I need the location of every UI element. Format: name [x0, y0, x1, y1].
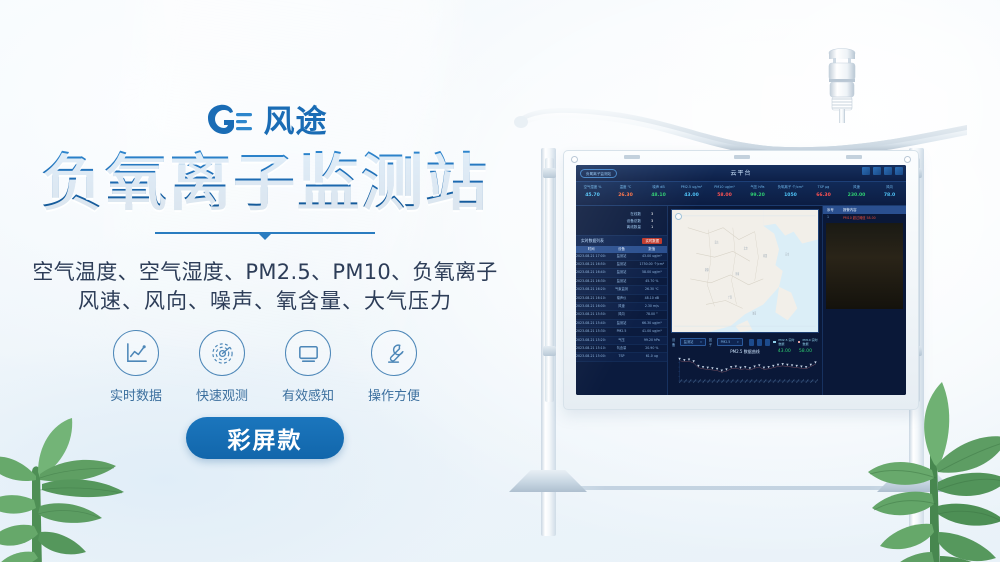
legend-label: PM10 实时数据	[802, 338, 818, 346]
hinge-icon	[904, 156, 911, 163]
metric-label: 风向	[873, 184, 906, 191]
alarm-row[interactable]: 1 PM10 超过阈值 58.00	[823, 214, 906, 220]
feature-label: 有效感知	[282, 385, 334, 404]
table-row[interactable]: 2023-08-21 16:40:06监测站58.00 ug/m³	[576, 269, 667, 277]
table-cell: 61.0 ug	[637, 353, 667, 360]
cta-button[interactable]: 彩屏款	[186, 417, 344, 459]
metric-value: 99.20	[741, 191, 774, 200]
device-stat-value: 1	[651, 224, 661, 231]
table-cell: 2023-08-21 15:00:00	[576, 353, 606, 360]
feature-item-effective-sensing[interactable]: 有效感知	[277, 330, 339, 404]
table-cell: 78.00 °	[637, 311, 667, 318]
base-plate-icon	[877, 470, 955, 492]
table-cell: 20.90 %	[637, 345, 667, 352]
table-cell: 1750.00 个/cm³	[637, 261, 667, 268]
metric-tile[interactable]: 噪声 dB48.10	[642, 182, 675, 205]
table-cell: 监测站	[606, 278, 636, 285]
table-cell: 2023-08-21 15:30:01	[576, 328, 606, 335]
svg-text:02:00: 02:00	[801, 379, 805, 384]
metric-label: 气压 hPa	[741, 184, 774, 191]
mount-tab	[846, 155, 862, 159]
metric-value: 58.00	[708, 191, 741, 200]
feature-item-fast-observation[interactable]: 快速观测	[191, 330, 253, 404]
data-table-rows[interactable]: 2023-08-21 17:00:07监测站43.00 ug/m³2023-08…	[576, 253, 667, 396]
mount-tab	[624, 155, 640, 159]
alarm-text: PM10 超过阈值 58.00	[839, 215, 906, 220]
table-cell: 2023-08-21 17:00:07	[576, 253, 606, 260]
chart-factor-value: PM2.5	[721, 338, 731, 346]
table-row[interactable]: 2023-08-21 16:10:04噪声仪48.10 dB	[576, 295, 667, 303]
feature-label: 操作方便	[368, 385, 420, 404]
mount-arm-left	[545, 158, 554, 402]
svg-text:海南: 海南	[752, 311, 756, 316]
display-screen[interactable]: 负氧离子监测站 云平台 空气湿度 %45.70温度 ℃26.30噪声 dB48.…	[576, 165, 906, 395]
metric-label: 风速	[840, 184, 873, 191]
svg-text:08:00: 08:00	[716, 379, 720, 384]
china-map-icon[interactable]: 蒙古北京 新疆河南 广西韩国 日本海南	[671, 209, 819, 333]
svg-text:14:00: 14:00	[744, 379, 748, 384]
chart-factor-select[interactable]: PM2.5 ▾	[717, 338, 743, 346]
metric-tile[interactable]: TSP μg66.30	[807, 182, 840, 205]
legend-label: PM2.5 实时数据	[778, 338, 794, 346]
table-row[interactable]: 2023-08-21 16:50:07监测站1750.00 个/cm³	[576, 261, 667, 269]
metric-tile[interactable]: 空气湿度 %45.70	[576, 182, 609, 205]
table-cell: 2.30 m/s	[637, 303, 667, 310]
metric-value: 78.0	[873, 191, 906, 200]
metric-tile[interactable]: 风向78.0	[873, 182, 906, 205]
table-cell: 氧含量	[606, 345, 636, 352]
chart-day-button[interactable]	[749, 339, 754, 346]
table-cell: 43.00 ug/m³	[637, 253, 667, 260]
table-cell: 2023-08-21 15:10:00	[576, 345, 606, 352]
svg-text:20:00: 20:00	[773, 379, 777, 384]
table-cell: 2023-08-21 15:50:02	[576, 311, 606, 318]
svg-text:06:00: 06:00	[707, 379, 711, 384]
table-row[interactable]: 2023-08-21 15:20:01气压99.20 hPa	[576, 337, 667, 345]
table-cell: 2023-08-21 15:20:01	[576, 337, 606, 344]
table-cell: 气压	[606, 337, 636, 344]
table-cell: 气象监测	[606, 286, 636, 293]
chart-controls: 设备 监测站 ▾ 因子 PM2.5 ▾	[668, 336, 822, 348]
svg-text:韩国: 韩国	[763, 254, 767, 259]
data-table-columns: 时间设备数值	[576, 246, 667, 253]
table-column-header: 数值	[637, 246, 667, 253]
table-cell: 监测站	[606, 320, 636, 327]
alarm-col-content: 报警内容	[839, 206, 906, 214]
chart-icon[interactable]	[873, 167, 881, 175]
table-cell: 2023-08-21 16:10:04	[576, 295, 606, 302]
dashboard-right-panel: 序号 报警内容 1 PM10 超过阈值 58.00	[822, 206, 906, 395]
dashboard-body: 在线数3设备总数3离线数量1 实时数据列表 实时数据 时间设备数值 2023-0…	[576, 206, 906, 395]
mount-tab	[734, 155, 750, 159]
svg-text:23:00: 23:00	[787, 379, 791, 384]
svg-text:04:00: 04:00	[810, 379, 814, 384]
metric-value: 230.00	[840, 191, 873, 200]
table-row[interactable]: 2023-08-21 15:00:00TSP61.0 ug	[576, 353, 667, 361]
map-locate-icon[interactable]	[675, 213, 682, 220]
feature-list: 实时数据 快速观测	[0, 330, 530, 404]
chart-legend-item-1: PM2.5 实时数据	[773, 338, 794, 346]
svg-text:05:00: 05:00	[815, 379, 818, 384]
table-cell: 48.10 dB	[637, 295, 667, 302]
metric-value: 66.30	[807, 191, 840, 200]
table-row[interactable]: 2023-08-21 16:30:05监测站45.70 %	[576, 278, 667, 286]
chart-readouts: 43.00 58.00	[778, 349, 812, 354]
svg-text:09:00: 09:00	[721, 379, 725, 384]
data-table-badge: 实时数据	[642, 238, 662, 244]
chart-device-value: 监测站	[684, 338, 694, 346]
table-cell: 2023-08-21 16:50:07	[576, 261, 606, 268]
table-cell: 2023-08-21 16:00:03	[576, 303, 606, 310]
table-row[interactable]: 2023-08-21 15:40:02监测站66.30 ug/m³	[576, 320, 667, 328]
chart-month-button[interactable]	[765, 339, 770, 346]
table-cell: TSP	[606, 353, 636, 360]
table-row[interactable]: 2023-08-21 16:20:05气象监测26.30 ℃	[576, 286, 667, 294]
metric-label: 空气湿度 %	[576, 184, 609, 191]
chart-select-right-label: 因子	[709, 337, 714, 347]
table-cell: 58.00 ug/m³	[637, 269, 667, 276]
svg-text:22:00: 22:00	[782, 379, 786, 384]
metric-label: TSP μg	[807, 184, 840, 191]
table-cell: 66.30 ug/m³	[637, 320, 667, 327]
svg-text:新疆: 新疆	[705, 267, 709, 272]
arm-clip	[543, 346, 556, 356]
metric-value: 26.30	[609, 191, 642, 200]
metric-value: 43.00	[675, 191, 708, 200]
table-cell: PM2.5	[606, 328, 636, 335]
table-cell: 99.20 hPa	[637, 337, 667, 344]
chart-readout-2: 58.00	[799, 349, 812, 354]
metric-tile[interactable]: 风速230.00	[840, 182, 873, 205]
divider-triangle-icon	[258, 233, 272, 240]
device-stat-row: 离线数量1	[582, 224, 661, 231]
radar-scan-icon	[199, 330, 245, 376]
subtitle-line-1: 空气温度、空气湿度、PM2.5、PM10、负氧离子	[0, 258, 530, 287]
dashboard-title: 云平台	[576, 168, 906, 177]
table-cell: 风速	[606, 303, 636, 310]
metric-value: 48.10	[642, 191, 675, 200]
svg-text:广西: 广西	[728, 295, 732, 300]
chart-readout-1: 43.00	[778, 349, 791, 354]
dashboard-header: 负氧离子监测站 云平台	[576, 165, 906, 182]
svg-text:15:00: 15:00	[749, 379, 753, 384]
table-row[interactable]: 2023-08-21 16:00:03风速2.30 m/s	[576, 303, 667, 311]
table-cell: 26.30 ℃	[637, 286, 667, 293]
svg-text:16:00: 16:00	[754, 379, 758, 384]
svg-text:21:00: 21:00	[777, 379, 781, 384]
chart-select-left-label: 设备	[672, 337, 677, 347]
data-table-title: 实时数据列表	[581, 238, 604, 244]
wind-g-logo-icon	[203, 103, 255, 141]
svg-text:日本: 日本	[785, 252, 789, 257]
feature-label: 实时数据	[110, 385, 162, 404]
pm-line-chart: 43.00 58.00 00:0001:0002:0003:0004:0005:…	[672, 355, 818, 392]
dashboard-left-panel: 在线数3设备总数3离线数量1 实时数据列表 实时数据 时间设备数值 2023-0…	[576, 206, 668, 395]
metric-tile[interactable]: 气压 hPa99.20	[741, 182, 774, 205]
svg-text:02:00: 02:00	[688, 379, 692, 384]
metric-tile[interactable]: PM10 ug/m³58.00	[708, 182, 741, 205]
table-cell: 41.00 ug/m³	[637, 328, 667, 335]
table-column-header: 时间	[576, 246, 606, 253]
svg-text:03:00: 03:00	[693, 379, 697, 384]
svg-text:07:00: 07:00	[712, 379, 716, 384]
page-title: 负氧离子监测站	[0, 150, 530, 215]
feature-label: 快速观测	[196, 385, 248, 404]
svg-text:19:00: 19:00	[768, 379, 772, 384]
product-illustration: 负氧离子监测站 云平台 空气湿度 %45.70温度 ℃26.30噪声 dB48.…	[505, 40, 975, 540]
table-cell: 2023-08-21 15:40:02	[576, 320, 606, 327]
divider	[0, 232, 530, 240]
brand-logo: 风途	[0, 103, 530, 141]
svg-text:18:00: 18:00	[763, 379, 767, 384]
svg-text:北京: 北京	[744, 246, 748, 251]
base-plate-icon	[509, 470, 587, 492]
arm-clip	[543, 168, 556, 178]
data-table-header: 实时数据列表 实时数据	[576, 236, 667, 246]
table-cell: 45.70 %	[637, 278, 667, 285]
grid-icon[interactable]	[862, 167, 870, 175]
table-cell: 监测站	[606, 253, 636, 260]
device-stat-label: 离线数量	[627, 224, 641, 231]
table-row[interactable]: 2023-08-21 17:00:07监测站43.00 ug/m³	[576, 253, 667, 261]
metric-value: 1050	[774, 191, 807, 200]
svg-text:05:00: 05:00	[702, 379, 706, 384]
metric-tile[interactable]: 温度 ℃26.30	[609, 182, 642, 205]
metric-tile[interactable]: 负氧离子 个/cm³1050	[774, 182, 807, 205]
svg-text:03:00: 03:00	[805, 379, 809, 384]
wrench-icon	[371, 330, 417, 376]
metric-label: 噪声 dB	[642, 184, 675, 191]
chevron-down-icon: ▾	[700, 338, 702, 346]
gear-icon[interactable]	[895, 167, 903, 175]
table-row[interactable]: 2023-08-21 15:50:02风向78.00 °	[576, 311, 667, 319]
metric-label: 温度 ℃	[609, 184, 642, 191]
feature-item-realtime-data[interactable]: 实时数据	[105, 330, 167, 404]
svg-text:12:00: 12:00	[735, 379, 739, 384]
subtitle-line-2: 风速、风向、噪声、氧含量、大气压力	[0, 287, 530, 316]
camera-snapshot[interactable]	[826, 223, 903, 309]
table-row[interactable]: 2023-08-21 15:10:00氧含量20.90 %	[576, 345, 667, 353]
svg-text:蒙古: 蒙古	[715, 240, 719, 245]
hero-subtitle: 空气温度、空气湿度、PM2.5、PM10、负氧离子 风速、风向、噪声、氧含量、大…	[0, 258, 530, 316]
table-cell: 2023-08-21 16:30:05	[576, 278, 606, 285]
dashboard-header-icons[interactable]	[862, 167, 903, 175]
svg-text:河南: 河南	[735, 271, 739, 276]
chart-device-select[interactable]: 监测站 ▾	[680, 338, 706, 346]
device-stats: 在线数3设备总数3离线数量1	[576, 206, 667, 236]
chart-legend-item-2: PM10 实时数据	[798, 338, 818, 346]
metric-label: PM2.5 ug/m³	[675, 184, 708, 191]
metric-value: 45.70	[576, 191, 609, 200]
svg-text:01:00: 01:00	[684, 379, 688, 384]
table-cell: 2023-08-21 16:40:06	[576, 269, 606, 276]
hero-text-column: 风途 负氧离子监测站 负氧离子监测站 空气温度、空气湿度、PM2.5、PM10、…	[0, 0, 530, 562]
svg-text:17:00: 17:00	[759, 379, 763, 384]
metric-label: PM10 ug/m³	[708, 184, 741, 191]
display-housing: 负氧离子监测站 云平台 空气湿度 %45.70温度 ℃26.30噪声 dB48.…	[563, 150, 919, 410]
hero-banner: 风途 负氧离子监测站 负氧离子监测站 空气温度、空气湿度、PM2.5、PM10、…	[0, 0, 1000, 562]
brand-name: 风途	[264, 107, 328, 138]
svg-text:00:00: 00:00	[791, 379, 795, 384]
table-column-header: 设备	[606, 246, 636, 253]
table-cell: 噪声仪	[606, 295, 636, 302]
chart-week-button[interactable]	[757, 339, 762, 346]
metric-label: 负氧离子 个/cm³	[774, 184, 807, 191]
monitoring-dashboard: 负氧离子监测站 云平台 空气湿度 %45.70温度 ℃26.30噪声 dB48.…	[576, 165, 906, 395]
line-chart-icon	[113, 330, 159, 376]
alarm-col-index: 序号	[823, 206, 839, 214]
monitor-icon	[285, 330, 331, 376]
table-cell: 2023-08-21 16:20:05	[576, 286, 606, 293]
hinge-icon	[571, 156, 578, 163]
svg-text:10:00: 10:00	[726, 379, 730, 384]
metric-tile[interactable]: PM2.5 ug/m³43.00	[675, 182, 708, 205]
table-cell: 风向	[606, 311, 636, 318]
alarm-index: 1	[823, 215, 839, 220]
dashboard-center-panel: 蒙古北京 新疆河南 广西韩国 日本海南 设	[668, 206, 822, 395]
table-cell: 监测站	[606, 261, 636, 268]
svg-text:04:00: 04:00	[698, 379, 702, 384]
svg-text:11:00: 11:00	[730, 379, 734, 384]
metric-strip: 空气湿度 %45.70温度 ℃26.30噪声 dB48.10PM2.5 ug/m…	[576, 182, 906, 206]
cta-button-label: 彩屏款	[228, 421, 303, 455]
table-cell: 监测站	[606, 269, 636, 276]
svg-text:01:00: 01:00	[796, 379, 800, 384]
svg-text:13:00: 13:00	[740, 379, 744, 384]
feature-item-easy-operation[interactable]: 操作方便	[363, 330, 425, 404]
table-row[interactable]: 2023-08-21 15:30:01PM2.541.00 ug/m³	[576, 328, 667, 336]
alarm-table-header: 序号 报警内容	[823, 206, 906, 214]
list-icon[interactable]	[884, 167, 892, 175]
chevron-down-icon: ▾	[737, 338, 739, 346]
